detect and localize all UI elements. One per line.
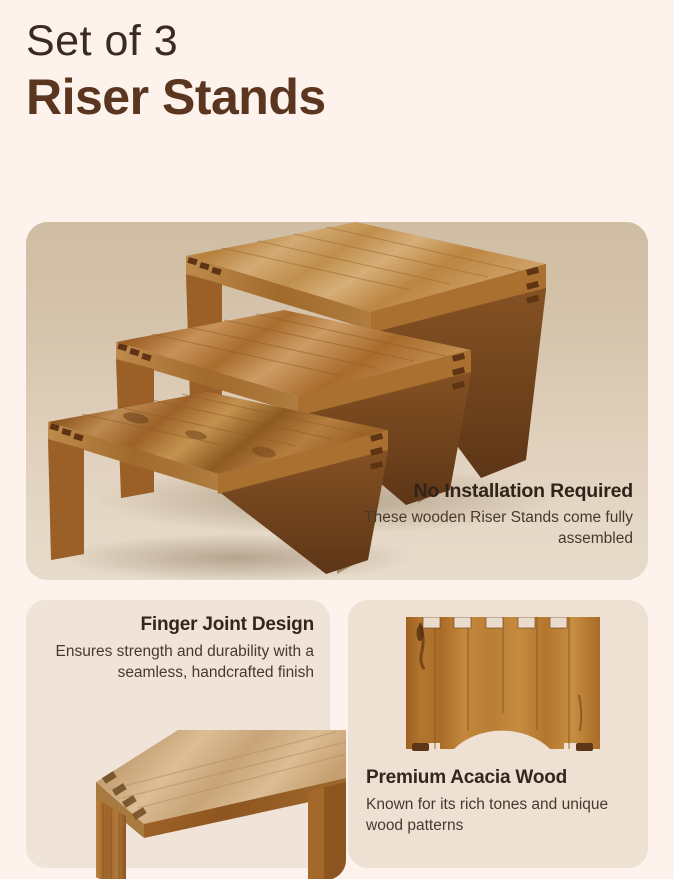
- finger-joint-text-block: Finger Joint Design Ensures strength and…: [38, 614, 314, 684]
- feature-card-acacia-wood: Premium Acacia Wood Known for its rich t…: [348, 600, 648, 868]
- hero-text-block: No Installation Required These wooden Ri…: [333, 480, 633, 550]
- acacia-heading: Premium Acacia Wood: [366, 767, 634, 789]
- acacia-text-block: Premium Acacia Wood Known for its rich t…: [366, 767, 634, 837]
- hero-subtext: These wooden Riser Stands come fully ass…: [333, 508, 633, 550]
- header: Set of 3 Riser Stands: [26, 20, 626, 124]
- feature-card-finger-joint: Finger Joint Design Ensures strength and…: [26, 600, 330, 868]
- acacia-panel-image: [406, 617, 600, 757]
- acacia-subtext: Known for its rich tones and unique wood…: [366, 795, 634, 837]
- hero-card: No Installation Required These wooden Ri…: [26, 222, 648, 580]
- finger-joint-heading: Finger Joint Design: [38, 614, 314, 636]
- page-title: Riser Stands: [26, 71, 626, 124]
- finger-joint-subtext: Ensures strength and durability with a s…: [38, 642, 314, 684]
- infographic-page: Set of 3 Riser Stands: [0, 0, 674, 879]
- hero-heading: No Installation Required: [333, 480, 633, 502]
- finger-joint-image: [86, 720, 346, 879]
- eyebrow-text: Set of 3: [26, 20, 626, 63]
